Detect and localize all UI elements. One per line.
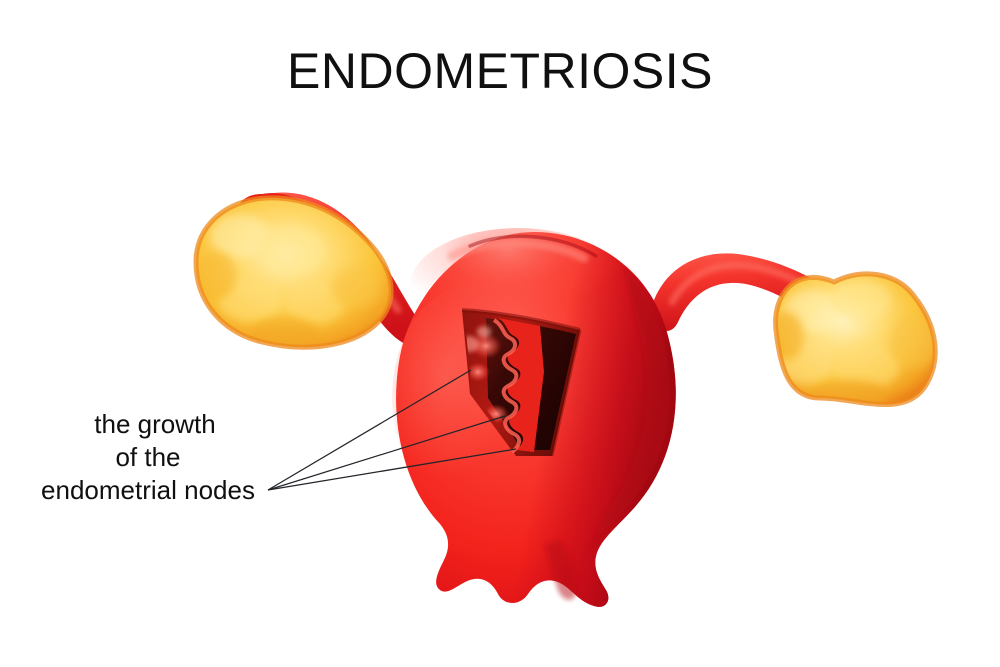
illustration-canvas: ENDOMETRIOSIS bbox=[0, 0, 1000, 667]
callout-line-2: of the bbox=[115, 442, 180, 472]
ovary-right bbox=[768, 274, 938, 412]
page-title: ENDOMETRIOSIS bbox=[287, 43, 713, 99]
ovary-left bbox=[192, 198, 391, 350]
callout-label: the growth of the endometrial nodes bbox=[41, 409, 255, 505]
callout-line-3: endometrial nodes bbox=[41, 475, 255, 505]
endometriosis-figure: ENDOMETRIOSIS bbox=[0, 0, 1000, 667]
callout-line-1: the growth bbox=[94, 409, 215, 439]
